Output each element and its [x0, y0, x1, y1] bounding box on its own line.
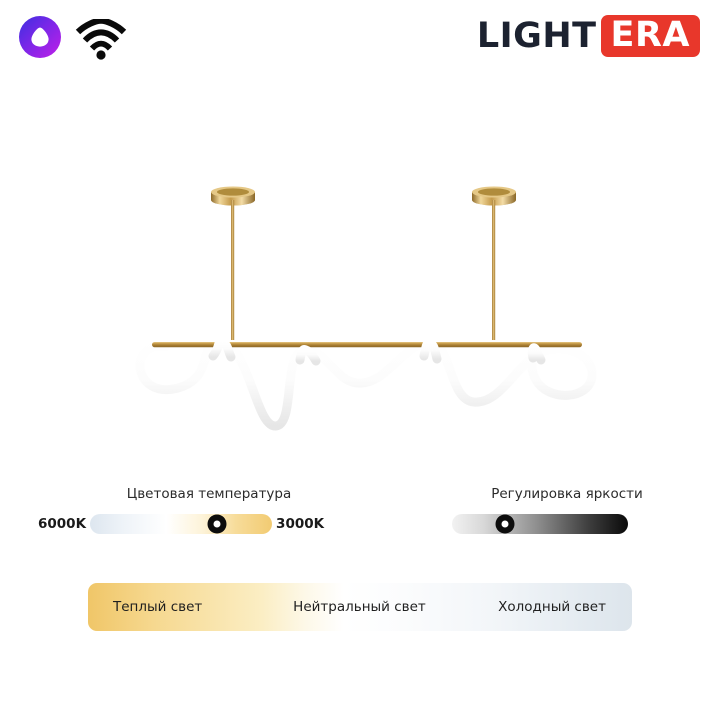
light-mode-cold[interactable]: Холодный свет — [442, 583, 632, 631]
brightness-control: Регулировка яркости — [452, 486, 682, 534]
brand-logo: LIGHT ERA — [477, 16, 700, 56]
alice-assistant-icon — [18, 15, 62, 59]
light-mode-neutral[interactable]: Нейтральный свет — [277, 583, 441, 631]
product-page: LIGHT ERA — [0, 0, 720, 720]
temperature-min-label: 6000K — [38, 516, 86, 532]
brightness-knob[interactable] — [495, 515, 514, 534]
brightness-slider[interactable] — [452, 514, 628, 534]
wifi-icon — [74, 19, 128, 61]
product-image — [0, 170, 720, 470]
light-mode-neutral-label: Нейтральный свет — [293, 599, 426, 615]
color-temperature-slider[interactable] — [90, 514, 272, 534]
brand-era-badge: ERA — [601, 15, 700, 57]
color-temperature-knob[interactable] — [208, 515, 227, 534]
temperature-max-label: 3000K — [276, 516, 324, 532]
brightness-title: Регулировка яркости — [452, 486, 682, 502]
brand-name-era: ERA — [611, 18, 690, 53]
light-mode-warm-label: Теплый свет — [113, 599, 202, 615]
led-tube — [129, 341, 592, 426]
top-bar: LIGHT ERA — [0, 0, 720, 72]
light-mode-cold-label: Холодный свет — [498, 599, 606, 615]
color-temperature-control: Цветовая температура 6000K 3000K — [38, 486, 328, 534]
light-mode-warm[interactable]: Теплый свет — [88, 583, 277, 631]
light-mode-selector[interactable]: Теплый свет Нейтральный свет Холодный св… — [88, 583, 632, 631]
brand-name-light: LIGHT — [477, 19, 597, 54]
controls-row: Цветовая температура 6000K 3000K Регулир… — [0, 486, 720, 566]
color-temperature-title: Цветовая температура — [38, 486, 328, 502]
